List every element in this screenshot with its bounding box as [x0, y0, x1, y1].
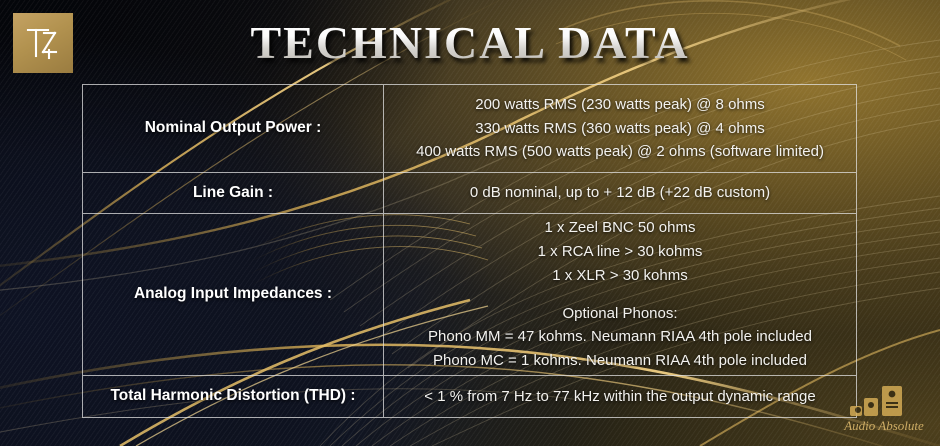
row-value-line-gain: 0 dB nominal, up to + 12 dB (+22 dB cust…	[384, 173, 856, 213]
value-line: 400 watts RMS (500 watts peak) @ 2 ohms …	[416, 140, 824, 164]
value-line: 0 dB nominal, up to + 12 dB (+22 dB cust…	[470, 181, 770, 205]
value-line: Phono MM = 47 kohms. Neumann RIAA 4th po…	[428, 325, 812, 349]
value-line: 200 watts RMS (230 watts peak) @ 8 ohms	[475, 93, 765, 117]
row-label-analog-input-impedances: Analog Input Impedances :	[83, 214, 384, 375]
row-value-analog-input-impedances: 1 x Zeel BNC 50 ohms 1 x RCA line > 30 k…	[384, 214, 856, 375]
row-label-line-gain: Line Gain :	[83, 173, 384, 213]
value-line: Optional Phonos:	[562, 302, 677, 326]
technical-data-slide: TECHNICAL DATA Nominal Output Power : 20…	[0, 0, 940, 446]
table-row: Line Gain : 0 dB nominal, up to + 12 dB …	[83, 173, 856, 214]
technical-data-table: Nominal Output Power : 200 watts RMS (23…	[82, 84, 857, 418]
value-line: 1 x Zeel BNC 50 ohms	[545, 216, 696, 240]
row-value-nominal-output-power: 200 watts RMS (230 watts peak) @ 8 ohms …	[384, 85, 856, 172]
table-row: Nominal Output Power : 200 watts RMS (23…	[83, 85, 856, 173]
row-label-total-harmonic-distortion: Total Harmonic Distortion (THD) :	[83, 376, 384, 417]
value-line: < 1 % from 7 Hz to 77 kHz within the out…	[424, 385, 815, 409]
table-row: Total Harmonic Distortion (THD) : < 1 % …	[83, 376, 856, 417]
row-label-nominal-output-power: Nominal Output Power :	[83, 85, 384, 172]
value-line: Phono MC = 1 kohms. Neumann RIAA 4th pol…	[433, 349, 807, 373]
page-title: TECHNICAL DATA	[0, 16, 940, 69]
row-value-total-harmonic-distortion: < 1 % from 7 Hz to 77 kHz within the out…	[384, 376, 856, 417]
table-row: Analog Input Impedances : 1 x Zeel BNC 5…	[83, 214, 856, 376]
value-line: 330 watts RMS (360 watts peak) @ 4 ohms	[475, 117, 765, 141]
value-line: 1 x XLR > 30 kohms	[552, 264, 687, 288]
value-line: 1 x RCA line > 30 kohms	[538, 240, 703, 264]
